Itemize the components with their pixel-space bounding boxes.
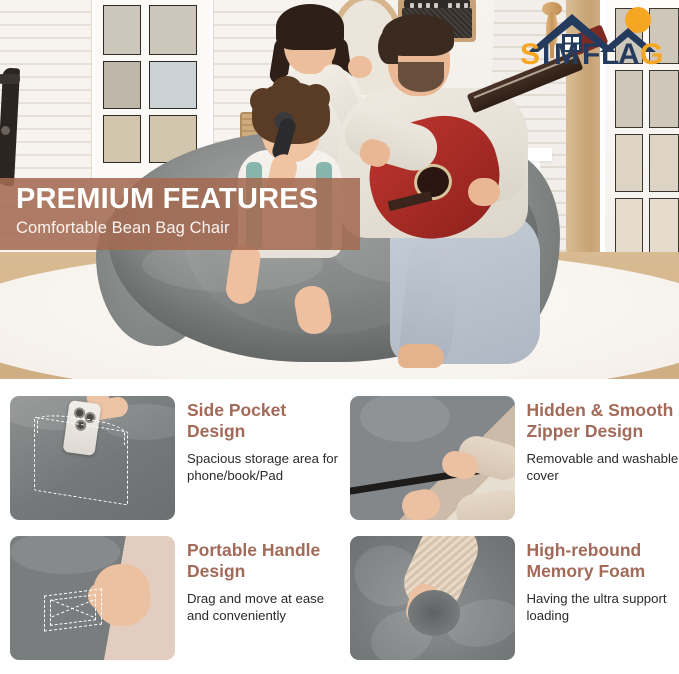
hero-lifestyle-photo: S I M F L A G PREMIUM FEATURES Comfortab…: [0, 0, 679, 379]
banner-subtitle: Comfortable Bean Bag Chair: [0, 214, 360, 238]
memory-foam-photo: [350, 536, 515, 660]
man-fretting-hand: [468, 178, 500, 206]
feature-title: High-rebound Memory Foam: [527, 540, 679, 583]
feature-item-handle: Portable Handle Design Drag and move at …: [0, 534, 340, 674]
feature-item-zipper: Hidden & Smooth Zipper Design Removable …: [340, 394, 679, 534]
handle-photo: [10, 536, 175, 660]
zipper-photo: [350, 396, 515, 520]
feature-item-side-pocket: Side Pocket Design Spacious storage area…: [0, 394, 340, 534]
feature-title: Hidden & Smooth Zipper Design: [527, 400, 679, 443]
logo-letter-3: F: [582, 38, 600, 68]
logo-letter-5: A: [618, 38, 640, 68]
brand-logo: S I M F L A G: [516, 6, 676, 68]
product-feature-page: S I M F L A G PREMIUM FEATURES Comfortab…: [0, 0, 679, 669]
feature-body: Spacious storage area for phone/book/Pad: [187, 450, 340, 485]
premium-features-banner: PREMIUM FEATURES Comfortable Bean Bag Ch…: [0, 178, 360, 250]
feature-body: Having the ultra support loading: [527, 590, 679, 625]
logo-letter-6: G: [640, 38, 663, 68]
banner-title: PREMIUM FEATURES: [0, 178, 360, 214]
feature-body: Removable and washable cover: [527, 450, 679, 485]
brand-wordmark: S I M F L A G: [520, 38, 663, 68]
logo-letter-1: I: [542, 38, 550, 68]
feature-title: Side Pocket Design: [187, 400, 340, 443]
side-pocket-photo: [10, 396, 175, 520]
pocket-outline: [34, 417, 128, 506]
feature-body: Drag and move at ease and conveniently: [187, 590, 340, 625]
foam-dimple: [408, 590, 460, 636]
feature-row-1: Side Pocket Design Spacious storage area…: [0, 394, 679, 534]
logo-letter-0: S: [520, 38, 540, 68]
feature-item-memory-foam: High-rebound Memory Foam Having the ultr…: [340, 534, 679, 674]
feature-grid: Side Pocket Design Spacious storage area…: [0, 380, 679, 669]
logo-letter-4: L: [601, 38, 619, 68]
dark-chair: [0, 68, 28, 188]
feature-row-2: Portable Handle Design Drag and move at …: [0, 534, 679, 674]
feature-title: Portable Handle Design: [187, 540, 340, 583]
logo-letter-2: M: [554, 38, 579, 68]
